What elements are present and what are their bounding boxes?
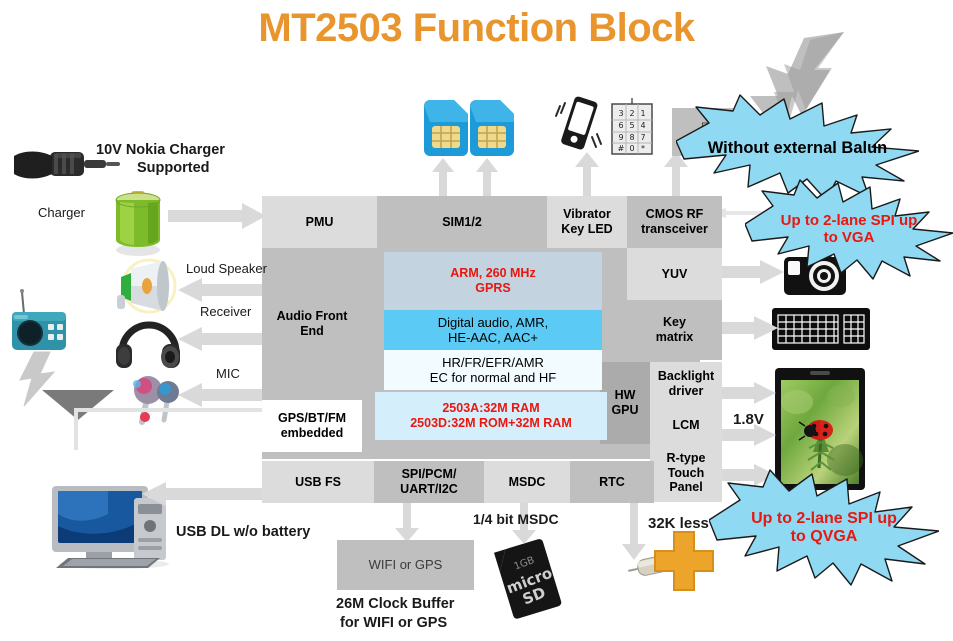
arrow-spi-to-wifigps <box>395 500 419 542</box>
block-sim[interactable]: SIM1/2 <box>377 196 547 248</box>
svg-text:4: 4 <box>640 121 645 130</box>
core-digital-audio: Digital audio, AMR, HE-AAC, AAC+ <box>384 310 602 350</box>
arrow-battery-to-pmu <box>168 203 266 229</box>
keyboard-icon <box>772 308 870 350</box>
core-mem-line2: 2503D:32M ROM+32M RAM <box>410 416 572 431</box>
label-charger: Charger <box>38 205 85 220</box>
svg-text:0: 0 <box>629 144 634 153</box>
label-receiver: Receiver <box>200 304 251 319</box>
callout-spi-vga: Up to 2-lane SPI up to VGA <box>745 178 953 282</box>
svg-text:7: 7 <box>640 133 645 142</box>
block-spi-pcm-uart-i2c[interactable]: SPI/PCM/ UART/I2C <box>374 461 484 503</box>
arrow-rtc-to-crystal <box>622 500 646 560</box>
sim-card-icon <box>424 100 468 156</box>
block-audio-front-end[interactable]: Audio Front End <box>262 248 362 400</box>
sim-card-icon <box>470 100 514 156</box>
block-msdc[interactable]: MSDC <box>484 461 570 503</box>
core-audio-line2: HE-AAC, AAC+ <box>448 330 538 345</box>
block-vibrator-keyled[interactable]: Vibrator Key LED <box>547 196 627 248</box>
slide-canvas: MT2503 Function Block <box>0 0 953 641</box>
arrow-keymatrix-to-keyboard <box>718 316 778 340</box>
label-32k-less: 32K less <box>648 515 709 532</box>
block-hw-gpu[interactable]: HW GPU <box>600 362 650 444</box>
battery-icon <box>108 186 168 258</box>
block-usb-fs[interactable]: USB FS <box>262 461 374 503</box>
core-arm-line2: GPRS <box>475 281 510 296</box>
svg-text:6: 6 <box>618 121 623 130</box>
svg-text:3: 3 <box>618 109 623 118</box>
core-arm-line1: ARM, 260 MHz <box>450 266 535 281</box>
block-key-matrix[interactable]: Key matrix <box>627 300 722 360</box>
keypad-icon: 321 654 987 #0* <box>608 96 656 158</box>
orange-cross-icon <box>653 530 715 592</box>
label-nokia-charger-line2: Supported <box>137 160 210 176</box>
svg-text:2: 2 <box>629 109 634 118</box>
svg-text:5: 5 <box>629 121 634 130</box>
arrow-vibrator-up <box>575 152 599 202</box>
label-1v8: 1.8V <box>733 411 764 428</box>
core-arm-gprs: ARM, 260 MHz GPRS <box>384 252 602 310</box>
label-loud-speaker: Loud Speaker <box>186 261 267 276</box>
connector-gpsbtfm-to-antenna <box>70 404 270 452</box>
svg-text:8: 8 <box>629 133 634 142</box>
block-rtc[interactable]: RTC <box>570 461 654 503</box>
svg-text:#: # <box>618 144 625 153</box>
block-gps-bt-fm-embedded[interactable]: GPS/BT/FM embedded <box>262 400 362 452</box>
block-backlight-driver[interactable]: Backlight driver <box>650 362 722 406</box>
core-mem-line1: 2503A:32M RAM <box>442 401 539 416</box>
svg-text:9: 9 <box>618 133 623 142</box>
vibrating-phone-icon <box>552 92 606 156</box>
label-usb-dl: USB DL w/o battery <box>176 524 310 540</box>
headphones-icon <box>112 312 186 374</box>
core-audio-line1: Digital audio, AMR, <box>438 315 549 330</box>
svg-text:*: * <box>641 144 645 153</box>
block-lcm[interactable]: LCM <box>650 406 722 444</box>
core-memory: 2503A:32M RAM 2503D:32M ROM+32M RAM <box>375 392 607 440</box>
block-yuv[interactable]: YUV <box>627 248 722 300</box>
arrow-usbfs-to-computer <box>142 482 274 506</box>
label-clock-buffer-line1: 26M Clock Buffer <box>336 596 454 612</box>
svg-text:1: 1 <box>640 109 645 118</box>
fm-radio-icon <box>8 288 72 358</box>
label-msdc-bits: 1/4 bit MSDC <box>473 511 559 527</box>
core-codec-line2: EC for normal and HF <box>430 370 556 385</box>
core-codec: HR/FR/EFR/AMR EC for normal and HF <box>384 350 602 390</box>
label-clock-buffer-line2: for WIFI or GPS <box>340 615 447 631</box>
megaphone-icon <box>105 255 185 317</box>
callout-spi-qvga: Up to 2-lane SPI up to QVGA <box>709 468 939 588</box>
core-codec-line1: HR/FR/EFR/AMR <box>442 355 544 370</box>
microsd-card-icon: 1GB micro SD <box>485 535 577 621</box>
label-nokia-charger-line1: 10V Nokia Charger <box>96 142 225 158</box>
block-cmos-rf-transceiver[interactable]: CMOS RF transceiver <box>627 196 722 248</box>
block-wifi-or-gps[interactable]: WIFI or GPS <box>337 540 474 590</box>
block-pmu[interactable]: PMU <box>262 196 377 248</box>
label-mic: MIC <box>216 366 240 381</box>
arrow-backlight-to-lcd <box>718 382 776 404</box>
